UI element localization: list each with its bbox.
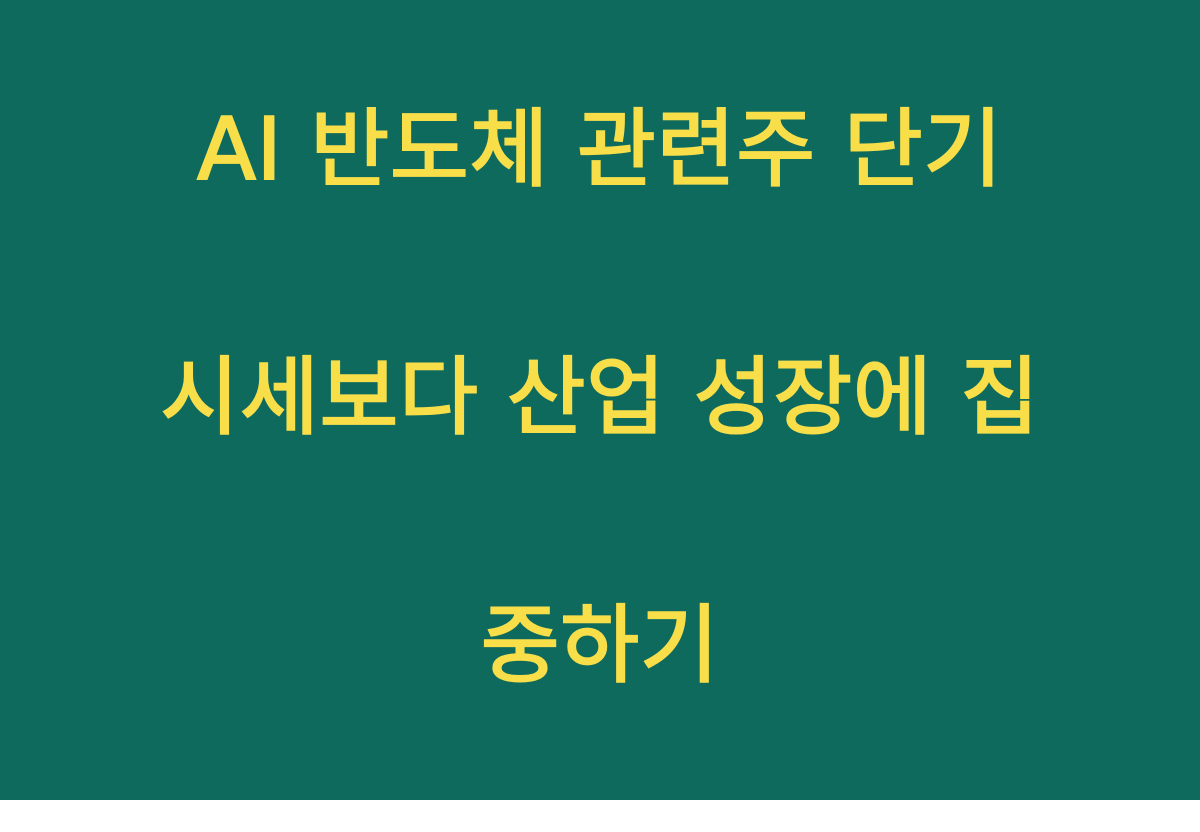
text-banner: AI 반도체 관련주 단기 시세보다 산업 성장에 집 중하기 [0,0,1200,800]
page-title: AI 반도체 관련주 단기 시세보다 산업 성장에 집 중하기 [70,0,1130,832]
headline-line-3: 중하기 [70,584,1130,708]
headline-line-1: AI 반도체 관련주 단기 [70,88,1130,212]
headline-line-2: 시세보다 산업 성장에 집 [70,336,1130,460]
